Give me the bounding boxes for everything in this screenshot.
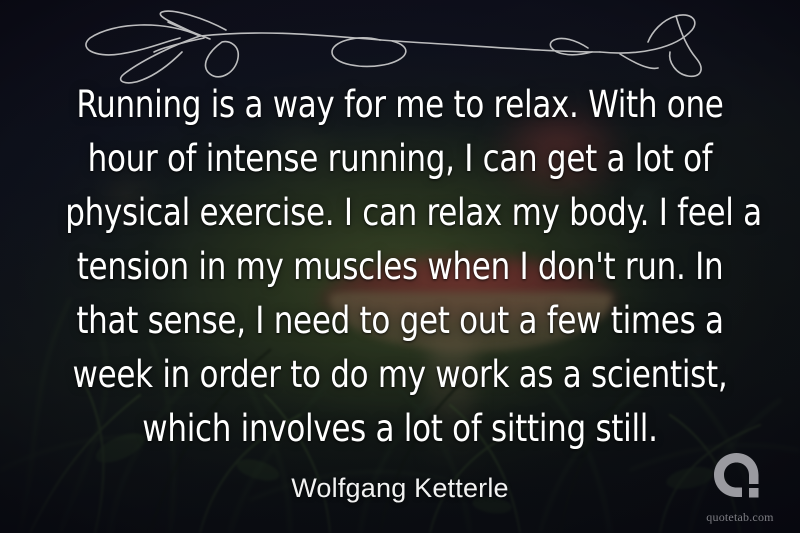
quote-line: Running is a way for me to relax. With o… [65, 78, 735, 132]
quote-line: week in order to do my work as a scienti… [65, 348, 735, 402]
quote-line: hour of intense running, I can get a lot… [65, 132, 735, 186]
watermark[interactable]: quotetab.com [688, 451, 792, 529]
author-name: Wolfgang Ketterle [0, 470, 800, 506]
quote-line: tension in my muscles when I don't run. … [65, 240, 735, 294]
quote-card: Running is a way for me to relax. With o… [0, 0, 800, 533]
flourish-divider [80, 8, 720, 84]
quote-text-block: Running is a way for me to relax. With o… [40, 78, 760, 456]
watermark-site-label[interactable]: quotetab.com [688, 509, 792, 525]
quotetab-q-logo-icon[interactable] [711, 451, 769, 509]
quote-line: which involves a lot of sitting still. [65, 402, 735, 456]
quote-line: that sense, I need to get out a few time… [65, 294, 735, 348]
quote-line: physical exercise. I can relax my body. … [65, 186, 735, 240]
